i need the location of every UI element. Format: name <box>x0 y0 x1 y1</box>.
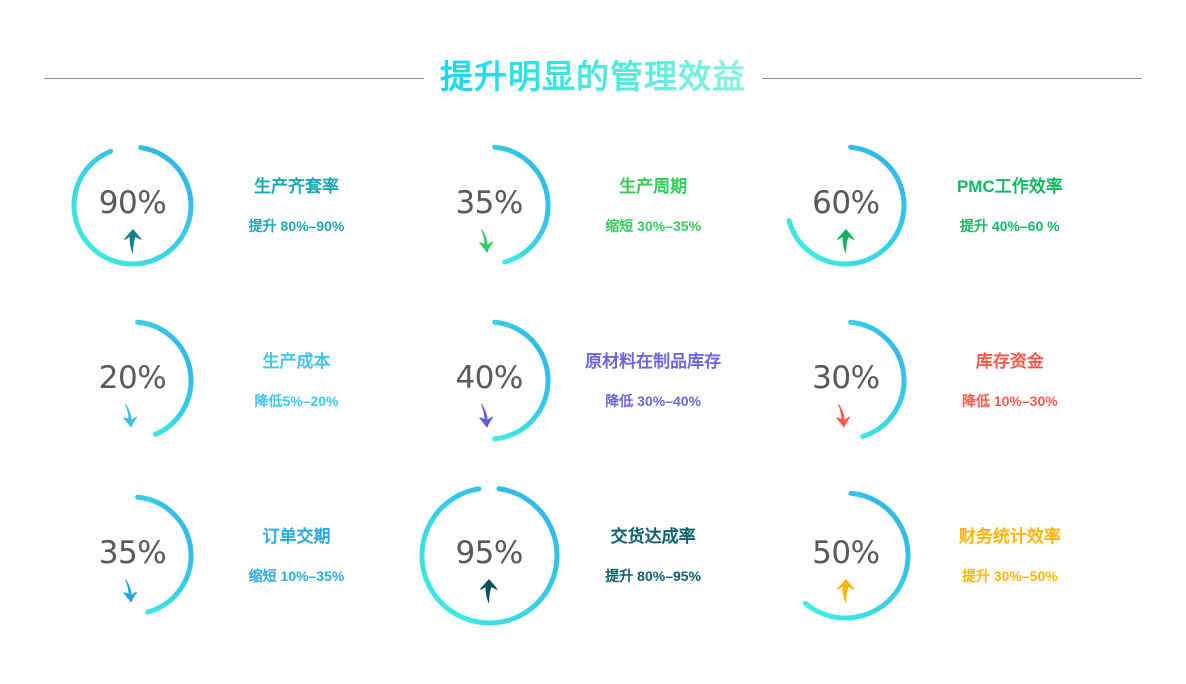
donut-chart-raw-material-wip-inventory: 40% <box>417 308 562 453</box>
arrow-down-icon <box>122 578 144 604</box>
metric-label: 生产周期 <box>619 178 687 195</box>
percent-value: 40% <box>417 308 562 453</box>
metric-card-production-cycle: 35%生产周期缩短 30%–35% <box>417 118 774 293</box>
arrow-up-icon <box>122 228 144 254</box>
metric-text-block: 生产齐套率提升 80%–90% <box>209 178 384 233</box>
metric-subtext: 提升 40%–60 % <box>960 219 1060 233</box>
donut-chart-inventory-funds: 30% <box>773 308 918 453</box>
percent-value: 95% <box>417 483 562 628</box>
metric-label: PMC工作效率 <box>957 178 1063 195</box>
donut-chart-pmc-work-efficiency: 60% <box>773 133 918 278</box>
metric-text-block: 财务统计效率提升 30%–50% <box>922 528 1097 583</box>
percent-value: 35% <box>417 133 562 278</box>
metric-label: 订单交期 <box>263 528 331 545</box>
donut-chart-production-cycle: 35% <box>417 133 562 278</box>
metric-subtext: 降低 30%–40% <box>605 394 701 408</box>
arrow-up-icon <box>835 228 857 254</box>
metric-card-production-cost: 20%生产成本降低5%–20% <box>60 293 417 468</box>
title-rule-left <box>44 78 424 79</box>
metric-card-raw-material-wip-inventory: 40%原材料在制品库存降低 30%–40% <box>417 293 774 468</box>
metric-card-production-kitting-rate: 90%生产齐套率提升 80%–90% <box>60 118 417 293</box>
metric-card-inventory-funds: 30%库存资金降低 10%–30% <box>773 293 1130 468</box>
percent-value: 30% <box>773 308 918 453</box>
metric-text-block: 生产成本降低5%–20% <box>209 353 384 408</box>
metric-subtext: 提升 30%–50% <box>962 569 1058 583</box>
percent-value: 60% <box>773 133 918 278</box>
donut-chart-delivery-achievement-rate: 95% <box>417 483 562 628</box>
page-header: 提升明显的管理效益 <box>0 52 1186 104</box>
metric-text-block: PMC工作效率提升 40%–60 % <box>922 178 1097 233</box>
percent-value: 35% <box>60 483 205 628</box>
metric-card-delivery-achievement-rate: 95%交货达成率提升 80%–95% <box>417 468 774 643</box>
metrics-grid: 90%生产齐套率提升 80%–90%35%生产周期缩短 30%–35%60%PM… <box>60 118 1130 643</box>
metric-text-block: 订单交期缩短 10%–35% <box>209 528 384 583</box>
arrow-up-icon <box>478 578 500 604</box>
arrow-down-icon <box>478 403 500 429</box>
donut-chart-order-lead-time: 35% <box>60 483 205 628</box>
percent-value: 90% <box>60 133 205 278</box>
page-title: 提升明显的管理效益 <box>440 60 746 97</box>
metric-label: 交货达成率 <box>611 528 696 545</box>
arrow-down-icon <box>122 403 144 429</box>
metric-card-financial-statistics-efficiency: 50%财务统计效率提升 30%–50% <box>773 468 1130 643</box>
metric-subtext: 降低5%–20% <box>254 394 338 408</box>
metric-text-block: 生产周期缩短 30%–35% <box>566 178 741 233</box>
metric-subtext: 缩短 10%–35% <box>249 569 345 583</box>
donut-chart-financial-statistics-efficiency: 50% <box>773 483 918 628</box>
metric-subtext: 提升 80%–95% <box>605 569 701 583</box>
metric-text-block: 原材料在制品库存降低 30%–40% <box>566 353 741 408</box>
metric-label: 生产齐套率 <box>254 178 339 195</box>
metric-subtext: 提升 80%–90% <box>249 219 345 233</box>
metric-label: 生产成本 <box>263 353 331 370</box>
metric-subtext: 降低 10%–30% <box>962 394 1058 408</box>
metric-card-order-lead-time: 35%订单交期缩短 10%–35% <box>60 468 417 643</box>
metric-subtext: 缩短 30%–35% <box>605 219 701 233</box>
metric-label: 库存资金 <box>976 353 1044 370</box>
title-rule-right <box>762 78 1142 79</box>
donut-chart-production-cost: 20% <box>60 308 205 453</box>
metric-label: 原材料在制品库存 <box>585 353 721 370</box>
percent-value: 50% <box>773 483 918 628</box>
metric-text-block: 交货达成率提升 80%–95% <box>566 528 741 583</box>
donut-chart-production-kitting-rate: 90% <box>60 133 205 278</box>
arrow-up-icon <box>835 578 857 604</box>
arrow-down-icon <box>835 403 857 429</box>
percent-value: 20% <box>60 308 205 453</box>
metric-card-pmc-work-efficiency: 60%PMC工作效率提升 40%–60 % <box>773 118 1130 293</box>
metric-text-block: 库存资金降低 10%–30% <box>922 353 1097 408</box>
arrow-down-icon <box>478 228 500 254</box>
metric-label: 财务统计效率 <box>959 528 1061 545</box>
